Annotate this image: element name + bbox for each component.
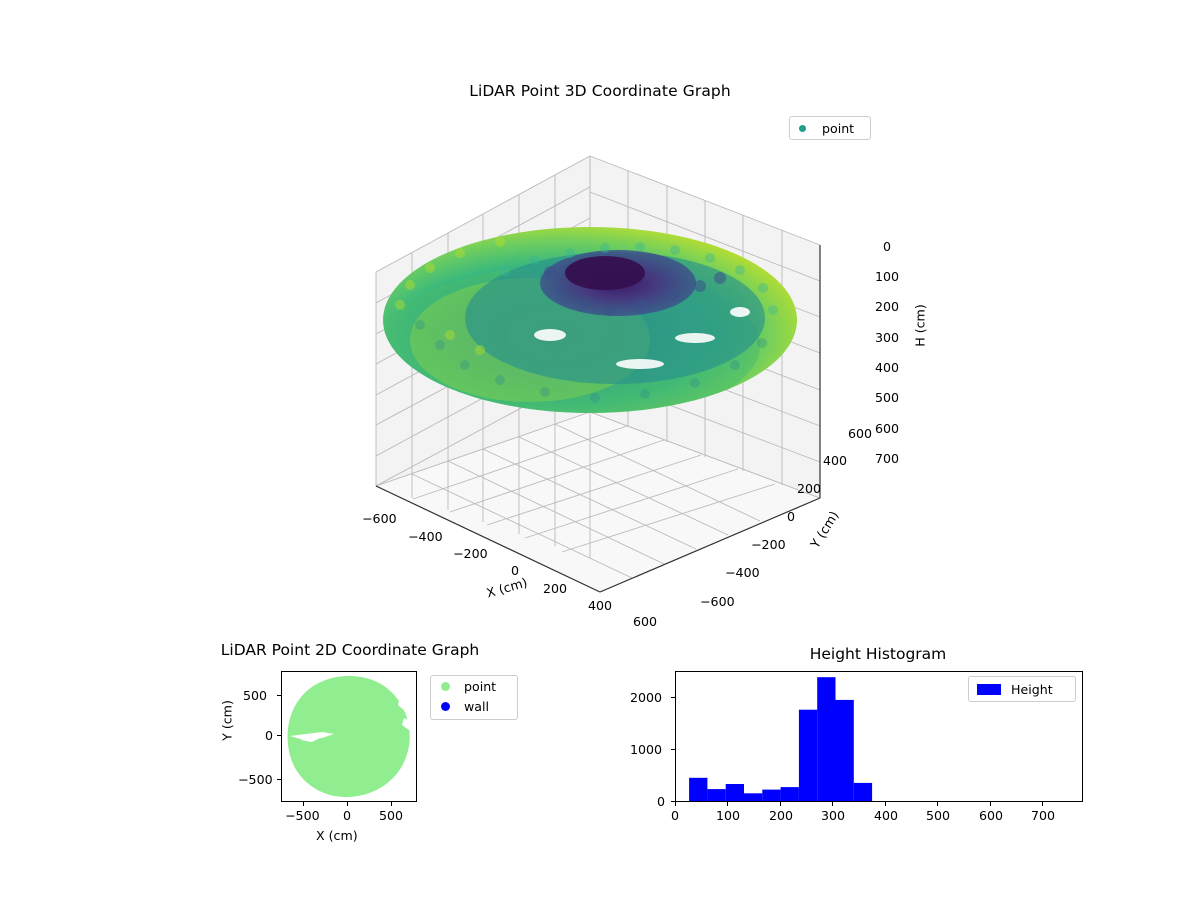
hist-xtick-200: 200 [769, 808, 793, 823]
matplotlib-figure: LiDAR Point 3D Coordinate Graph point [0, 0, 1200, 900]
hist-ytick-mark-1000 [671, 749, 675, 750]
hist-ytick-mark-0 [671, 801, 675, 802]
plot2d-xtick-mark-0 [347, 802, 348, 806]
plot2d-axes [281, 671, 417, 802]
histogram-title: Height Histogram [728, 645, 1028, 663]
plot3d-axes: 0 100 200 300 400 500 600 700 H (cm) −60… [300, 140, 920, 620]
legend-marker-height-icon [977, 684, 1001, 695]
legend-item-point: point [790, 117, 870, 139]
plot2d-legend: point wall [430, 675, 518, 720]
hist-xtick-0: 0 [671, 808, 679, 823]
plot2d-point-cloud [288, 676, 413, 797]
plot3d-canvas [300, 140, 920, 620]
plot3d-ztick-300: 300 [875, 330, 899, 345]
plot2d-xtick-mark-m500 [303, 802, 304, 806]
plot2d-ytick-mark-m500 [277, 779, 281, 780]
legend-label-height: Height [1011, 682, 1053, 697]
plot3d-ytick-200: 200 [797, 481, 821, 496]
histogram-legend: Height [968, 676, 1076, 702]
plot2d-xtick-mark-500 [391, 802, 392, 806]
hist-xtick-mark-400 [885, 802, 886, 806]
hist-ytick-1000: 1000 [630, 742, 662, 757]
plot3d-xtick-m400: −400 [408, 529, 443, 544]
hist-xtick-mark-500 [937, 802, 938, 806]
plot3d-ytick-0: 0 [787, 509, 795, 524]
hist-xtick-mark-300 [832, 802, 833, 806]
hist-ytick-2000: 2000 [630, 690, 662, 705]
plot3d-zaxis-label: H (cm) [913, 303, 928, 349]
hist-xtick-mark-0 [675, 802, 676, 806]
plot2d-canvas [282, 672, 416, 801]
plot3d-ytick-600: 600 [848, 426, 872, 441]
plot3d-xtick-600: 600 [633, 614, 657, 629]
plot3d-xtick-m600: −600 [362, 511, 397, 526]
legend-item-wall: wall [431, 696, 517, 716]
plot2d-xtick-0: 0 [343, 808, 351, 823]
hist-xtick-400: 400 [874, 808, 898, 823]
hist-xtick-mark-700 [1042, 802, 1043, 806]
plot3d-ytick-400: 400 [823, 453, 847, 468]
plot2d-ytick-500: 500 [243, 688, 267, 703]
legend-label-wall: wall [464, 699, 489, 714]
legend-marker-point-icon [799, 125, 806, 132]
plot3d-title: LiDAR Point 3D Coordinate Graph [0, 82, 1200, 100]
plot3d-xtick-m200: −200 [453, 546, 488, 561]
plot3d-ztick-400: 400 [875, 360, 899, 375]
plot2d-ytick-0: 0 [265, 728, 273, 743]
plot3d-ztick-0: 0 [883, 239, 891, 254]
plot3d-ztick-700: 700 [875, 451, 899, 466]
plot3d-ytick-m200: −200 [751, 537, 786, 552]
plot2d-xtick-m500: −500 [285, 808, 320, 823]
plot2d-title: LiDAR Point 2D Coordinate Graph [205, 641, 495, 659]
hist-ytick-mark-2000 [671, 697, 675, 698]
legend-label-point: point [464, 679, 496, 694]
plot3d-xtick-200: 200 [543, 581, 567, 596]
plot3d-ztick-200: 200 [875, 299, 899, 314]
hist-xtick-300: 300 [821, 808, 845, 823]
plot2d-xaxis-label: X (cm) [316, 828, 358, 843]
plot3d-ztick-600: 600 [875, 421, 899, 436]
plot3d-ztick-500: 500 [875, 390, 899, 405]
hist-xtick-100: 100 [716, 808, 740, 823]
hist-xtick-mark-600 [990, 802, 991, 806]
plot3d-xtick-400: 400 [588, 598, 612, 613]
plot3d-legend: point [789, 116, 871, 140]
legend-marker-wall-icon [441, 702, 450, 711]
hist-xtick-700: 700 [1031, 808, 1055, 823]
plot3d-ytick-m600: −600 [700, 594, 735, 609]
legend-label-point: point [822, 121, 854, 136]
plot2d-xtick-500: 500 [379, 808, 403, 823]
plot2d-ytick-mark-500 [277, 695, 281, 696]
legend-item-point: point [431, 676, 517, 696]
plot2d-yaxis-label: Y (cm) [220, 697, 235, 745]
plot3d-ytick-m400: −400 [725, 565, 760, 580]
plot3d-ztick-100: 100 [875, 269, 899, 284]
legend-marker-point-icon [441, 682, 450, 691]
histogram-bars [689, 677, 872, 801]
hist-xtick-mark-100 [727, 802, 728, 806]
plot2d-ytick-m500: −500 [238, 772, 273, 787]
hist-ytick-0: 0 [657, 794, 665, 809]
legend-item-height: Height [969, 677, 1075, 701]
plot2d-ytick-mark-0 [277, 735, 281, 736]
hist-xtick-mark-200 [780, 802, 781, 806]
hist-xtick-600: 600 [979, 808, 1003, 823]
hist-xtick-500: 500 [926, 808, 950, 823]
